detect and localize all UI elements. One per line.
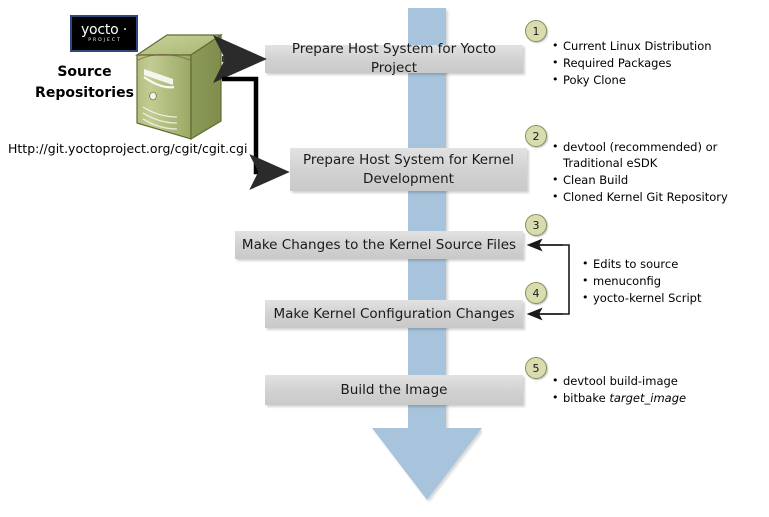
note-item: devtool (recommended) or Traditional eSD… — [563, 139, 765, 171]
step-3-4-shared-notes: Edits to source menuconfig yocto-kernel … — [580, 256, 760, 307]
note-item: yocto-kernel Script — [593, 290, 760, 306]
diagram-canvas: yocto · PROJECT Source Repositories — [0, 0, 769, 517]
process-box-prepare-host-kernel[interactable]: Prepare Host System for Kernel Developme… — [290, 148, 527, 191]
yocto-project-logo: yocto · PROJECT — [70, 15, 138, 52]
step-1-number: 1 — [533, 25, 540, 38]
box-3-label: Make Changes to the Kernel Source Files — [242, 236, 516, 255]
step-number-4: 4 — [525, 282, 547, 304]
note-item: Cloned Kernel Git Repository — [563, 189, 765, 205]
step-number-5: 5 — [525, 357, 547, 379]
step-3-number: 3 — [533, 219, 540, 232]
step-5-number: 5 — [533, 362, 540, 375]
note-item: devtool build-image — [563, 373, 760, 389]
note-item: bitbake target_image — [563, 390, 760, 406]
note-item: Required Packages — [563, 55, 760, 71]
box-1-label: Prepare Host System for Yocto Project — [271, 40, 517, 78]
box-2-label: Prepare Host System for Kernel Developme… — [296, 151, 521, 189]
step-1-notes: Current Linux Distribution Required Pack… — [550, 38, 760, 89]
source-repository-url: Http://git.yoctoproject.org/cgit/cgit.cg… — [8, 141, 247, 156]
process-box-make-config-changes[interactable]: Make Kernel Configuration Changes — [265, 300, 523, 328]
process-box-prepare-host-yocto[interactable]: Prepare Host System for Yocto Project — [265, 45, 523, 73]
note-item: Current Linux Distribution — [563, 38, 760, 54]
note-item-line2: Traditional eSDK — [563, 156, 657, 170]
note-item: Clean Build — [563, 172, 765, 188]
note-item: Poky Clone — [563, 72, 760, 88]
box-5-label: Build the Image — [341, 381, 448, 400]
process-box-build-image[interactable]: Build the Image — [265, 375, 523, 405]
step-2-notes: devtool (recommended) or Traditional eSD… — [550, 139, 765, 206]
box-4-label: Make Kernel Configuration Changes — [273, 305, 514, 324]
process-box-make-source-changes[interactable]: Make Changes to the Kernel Source Files — [235, 231, 523, 259]
source-repositories-label: Source Repositories — [22, 62, 147, 104]
step-2-number: 2 — [533, 130, 540, 143]
note-item-line1: devtool (recommended) or — [563, 140, 717, 154]
step-4-number: 4 — [533, 287, 540, 300]
arrow-server-to-box2 — [222, 79, 283, 172]
note-item: menuconfig — [593, 273, 760, 289]
step-number-1: 1 — [525, 20, 547, 42]
step-number-2: 2 — [525, 125, 547, 147]
note-item-italic: target_image — [609, 391, 686, 405]
logo-wordmark: yocto · — [81, 23, 127, 37]
step-5-notes: devtool build-image bitbake target_image — [550, 373, 760, 407]
step-number-3: 3 — [525, 214, 547, 236]
server-tower-icon — [133, 33, 223, 146]
note-item: Edits to source — [593, 256, 760, 272]
source-label-line2: Repositories — [22, 83, 147, 104]
note-item-prefix: bitbake — [563, 391, 609, 405]
logo-subtitle: PROJECT — [88, 37, 121, 44]
source-label-line1: Source — [22, 62, 147, 83]
